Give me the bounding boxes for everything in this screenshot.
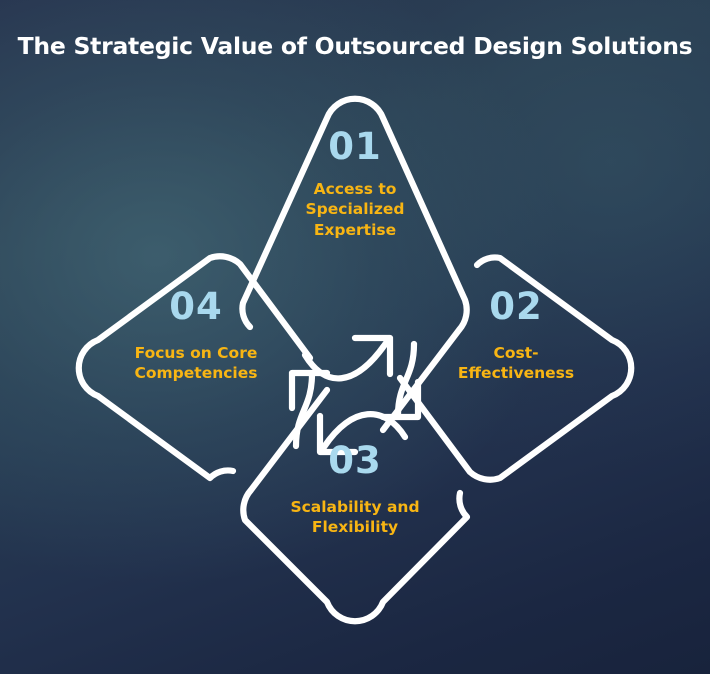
- node-01-number: 01: [255, 128, 455, 165]
- node-01-label-line1: Access to: [255, 179, 455, 199]
- node-02-label: Cost- Effectiveness: [416, 343, 616, 384]
- node-01-label-line2: Specialized: [255, 199, 455, 219]
- node-03-label: Scalability and Flexibility: [255, 497, 455, 538]
- node-01[interactable]: 01 Access to Specialized Expertise: [255, 128, 455, 240]
- infographic-poster: The Strategic Value of Outsourced Design…: [0, 0, 710, 674]
- node-03-label-line2: Flexibility: [255, 517, 455, 537]
- node-02-number: 02: [416, 288, 616, 325]
- node-04-label: Focus on Core Competencies: [96, 343, 296, 384]
- node-02-label-line2: Effectiveness: [416, 363, 616, 383]
- node-03-label-line1: Scalability and: [255, 497, 455, 517]
- node-01-label: Access to Specialized Expertise: [255, 179, 455, 240]
- node-02-label-line1: Cost-: [416, 343, 616, 363]
- node-01-label-line3: Expertise: [255, 220, 455, 240]
- node-04-label-line2: Competencies: [96, 363, 296, 383]
- node-02[interactable]: 02 Cost- Effectiveness: [416, 288, 616, 384]
- node-03-number: 03: [255, 442, 455, 479]
- node-04[interactable]: 04 Focus on Core Competencies: [96, 288, 296, 384]
- node-03[interactable]: 03 Scalability and Flexibility: [255, 442, 455, 538]
- node-04-label-line1: Focus on Core: [96, 343, 296, 363]
- node-04-number: 04: [96, 288, 296, 325]
